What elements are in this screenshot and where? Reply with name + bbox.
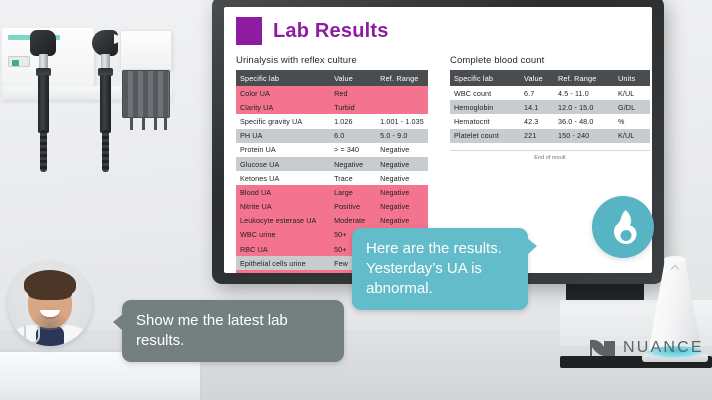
table-row[interactable]: Ketones UA Trace Negative: [236, 171, 428, 185]
lab-name-cell: PH UA: [236, 129, 330, 143]
column-header: Value: [520, 70, 554, 86]
column-header: Specific lab: [236, 70, 330, 86]
lab-name-cell: WBC count: [450, 86, 520, 100]
table-row[interactable]: Glucose UA Negative Negative: [236, 157, 428, 171]
lab-name-cell: Blood UA: [236, 185, 330, 199]
lab-value-cell: 14.1: [520, 100, 554, 114]
lab-range-cell: 36.0 - 48.0: [554, 114, 614, 128]
lab-value-cell: 221: [520, 129, 554, 143]
table-row[interactable]: PH UA 6.0 5.0 - 9.0: [236, 129, 428, 143]
lab-value-cell: Large: [330, 185, 376, 199]
lab-name-cell: WBC urine: [236, 228, 330, 242]
lab-name-cell: Bacteria UA: [236, 270, 330, 273]
lab-range-cell: Negative: [376, 171, 428, 185]
lab-value-cell: > = 340: [330, 143, 376, 157]
table-header-row: Specific lab Value Ref. Range: [236, 70, 428, 86]
table-row[interactable]: WBC count 6.7 4.5 - 11.0 K/UL: [450, 86, 650, 100]
lab-name-cell: Hematocrit: [450, 114, 520, 128]
table-row[interactable]: Protein UA > = 340 Negative: [236, 143, 428, 157]
end-of-result-note: End of result: [450, 150, 650, 161]
panel-heading: Urinalysis with reflex culture: [236, 55, 428, 66]
lab-name-cell: Platelet count: [450, 129, 520, 143]
brand-square-icon: [236, 17, 262, 45]
nuance-logo: NUANCE: [588, 336, 704, 360]
column-header: Value: [330, 70, 376, 86]
page-title: Lab Results: [273, 20, 389, 43]
lab-value-cell: 6.0: [330, 129, 376, 143]
table-header-row: Specific lab Value Ref. Range Units: [450, 70, 650, 86]
lab-range-cell: 5.0 - 9.0: [376, 129, 428, 143]
lab-name-cell: Protein UA: [236, 143, 330, 157]
lab-name-cell: Specific gravity UA: [236, 114, 330, 128]
lab-range-cell: Negative: [376, 143, 428, 157]
clinician-avatar: [8, 262, 92, 346]
column-header: Ref. Range: [376, 70, 428, 86]
lab-range-cell: [376, 86, 428, 100]
power-indicator-icon: [8, 56, 30, 67]
table-row[interactable]: Hemoglobin 14.1 12.0 - 15.0 G/DL: [450, 100, 650, 114]
column-header: Ref. Range: [554, 70, 614, 86]
lab-value-cell: 42.3: [520, 114, 554, 128]
lab-name-cell: Color UA: [236, 86, 330, 100]
lab-units-cell: K/UL: [614, 129, 650, 143]
user-speech-bubble: Show me the latest lab results.: [122, 300, 344, 362]
lab-range-cell: Negative: [376, 214, 428, 228]
table-row[interactable]: Color UA Red: [236, 86, 428, 100]
lab-value-cell: Red: [330, 86, 376, 100]
lab-name-cell: Leukocyte esterase UA: [236, 214, 330, 228]
instrument-rack: [122, 70, 170, 118]
lab-name-cell: RBC UA: [236, 242, 330, 256]
lab-units-cell: G/DL: [614, 100, 650, 114]
lab-value-cell: Turbid: [330, 100, 376, 114]
lab-value-cell: 1.026: [330, 114, 376, 128]
lab-range-cell: 4.5 - 11.0: [554, 86, 614, 100]
lab-name-cell: Hemoglobin: [450, 100, 520, 114]
table-row[interactable]: Blood UA Large Negative: [236, 185, 428, 199]
lab-range-cell: Negative: [376, 157, 428, 171]
nuance-swoosh-icon: [588, 336, 618, 360]
table-row[interactable]: Leukocyte esterase UA Moderate Negative: [236, 214, 428, 228]
cbc-table: Specific lab Value Ref. Range Units WBC …: [450, 70, 650, 143]
lab-units-cell: K/UL: [614, 86, 650, 100]
table-row[interactable]: Clarity UA Turbid: [236, 100, 428, 114]
lab-name-cell: Clarity UA: [236, 100, 330, 114]
table-row[interactable]: Hematocrit 42.3 36.0 - 48.0 %: [450, 114, 650, 128]
wall-dispenser: [120, 30, 172, 70]
lab-range-cell: 1.001 - 1.035: [376, 114, 428, 128]
avatar-hair: [24, 270, 76, 298]
column-header: Specific lab: [450, 70, 520, 86]
speaker-top: [664, 256, 686, 263]
lab-value-cell: Trace: [330, 171, 376, 185]
page-title-row: Lab Results: [236, 17, 640, 45]
exam-room-scene: Lab Results Urinalysis with reflex cultu…: [0, 0, 712, 400]
lab-name-cell: Glucose UA: [236, 157, 330, 171]
assistant-speech-bubble: Here are the results. Yesterday’s UA is …: [352, 228, 528, 310]
lab-value-cell: Moderate: [330, 214, 376, 228]
lab-range-cell: Negative: [376, 185, 428, 199]
table-row[interactable]: Nitrite UA Positive Negative: [236, 200, 428, 214]
lab-range-cell: Negative: [376, 200, 428, 214]
table-row[interactable]: Platelet count 221 150 - 240 K/UL: [450, 129, 650, 143]
assistant-message-text: Here are the results. Yesterday’s UA is …: [366, 240, 502, 297]
dragon-flame-icon: [592, 196, 654, 258]
lab-name-cell: Epithelial cells urine: [236, 256, 330, 270]
lab-name-cell: Nitrite UA: [236, 200, 330, 214]
column-header: Units: [614, 70, 650, 86]
nuance-wordmark: NUANCE: [623, 339, 704, 357]
panel-heading: Complete blood count: [450, 55, 650, 66]
user-message-text: Show me the latest lab results.: [136, 312, 288, 349]
lab-value-cell: Positive: [330, 200, 376, 214]
lab-value-cell: 6.7: [520, 86, 554, 100]
lab-value-cell: Negative: [330, 157, 376, 171]
table-row[interactable]: Specific gravity UA 1.026 1.001 - 1.035: [236, 114, 428, 128]
lab-range-cell: 150 - 240: [554, 129, 614, 143]
lab-range-cell: 12.0 - 15.0: [554, 100, 614, 114]
stethoscope-icon: [24, 326, 40, 344]
lab-name-cell: Ketones UA: [236, 171, 330, 185]
lab-units-cell: %: [614, 114, 650, 128]
lab-range-cell: [376, 100, 428, 114]
